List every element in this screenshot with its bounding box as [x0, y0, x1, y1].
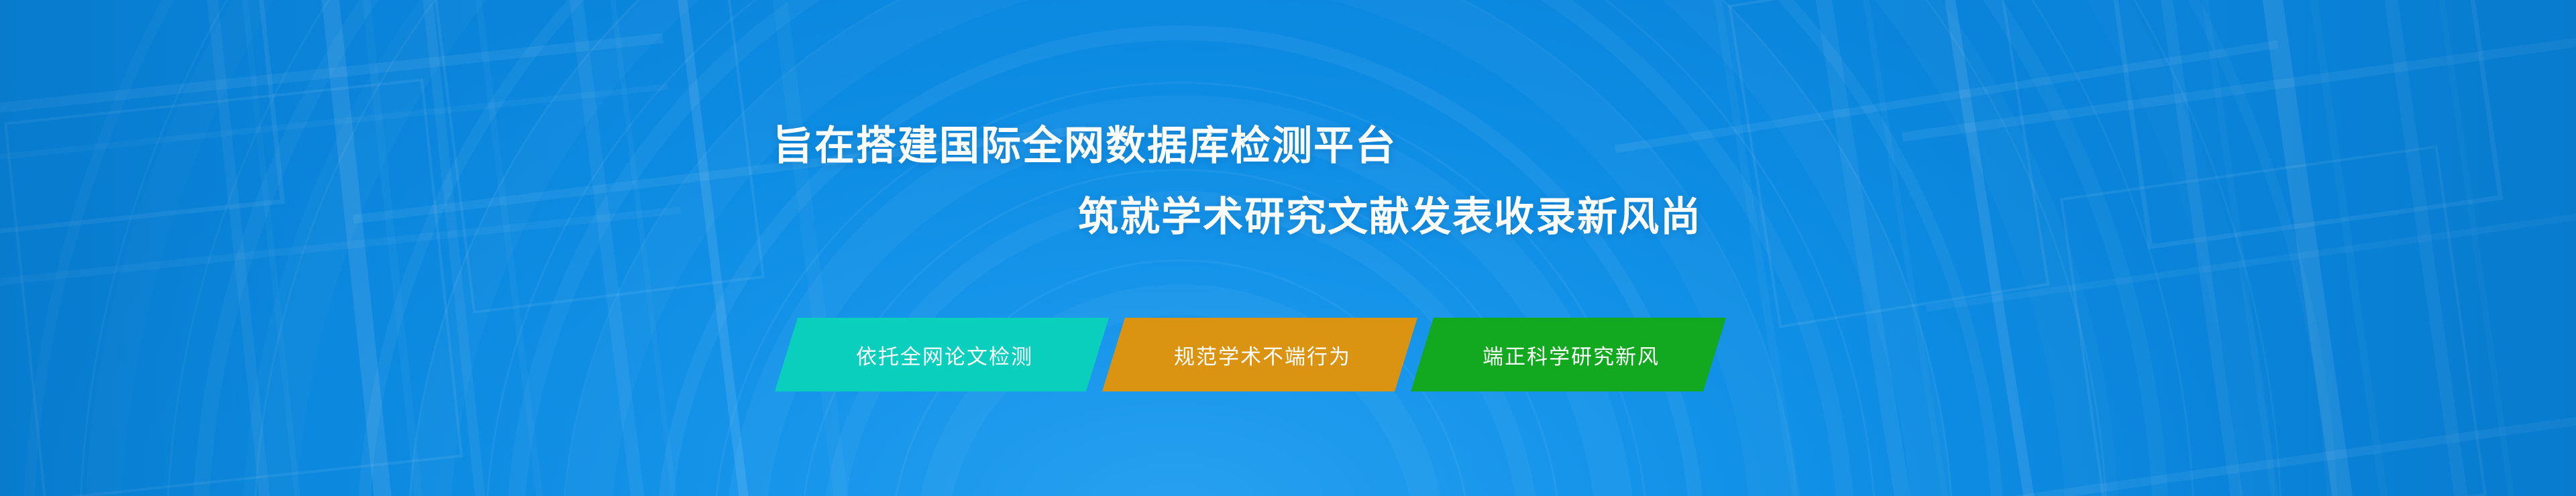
banner-content: 旨在搭建国际全网数据库检测平台 筑就学术研究文献发表收录新风尚 依托全网论文检测…	[0, 0, 2576, 496]
feature-tag-label: 规范学术不端行为	[1174, 340, 1351, 370]
feature-tag-strip: 依托全网论文检测 规范学术不端行为 端正科学研究新风	[775, 318, 1726, 391]
headline-line-2: 筑就学术研究文献发表收录新风尚	[1078, 197, 1846, 237]
headline-block: 旨在搭建国际全网数据库检测平台 筑就学术研究文献发表收录新风尚	[773, 126, 1846, 237]
feature-tag-paper-detection[interactable]: 依托全网论文检测	[775, 318, 1109, 391]
feature-tag-misconduct-regulation[interactable]: 规范学术不端行为	[1102, 318, 1417, 391]
feature-tag-label: 端正科学研究新风	[1483, 340, 1660, 370]
headline-line-1: 旨在搭建国际全网数据库检测平台	[773, 126, 1846, 166]
feature-tag-label: 依托全网论文检测	[856, 340, 1033, 370]
promo-banner: 旨在搭建国际全网数据库检测平台 筑就学术研究文献发表收录新风尚 依托全网论文检测…	[0, 0, 2576, 496]
feature-tag-research-ethos[interactable]: 端正科学研究新风	[1411, 318, 1726, 391]
